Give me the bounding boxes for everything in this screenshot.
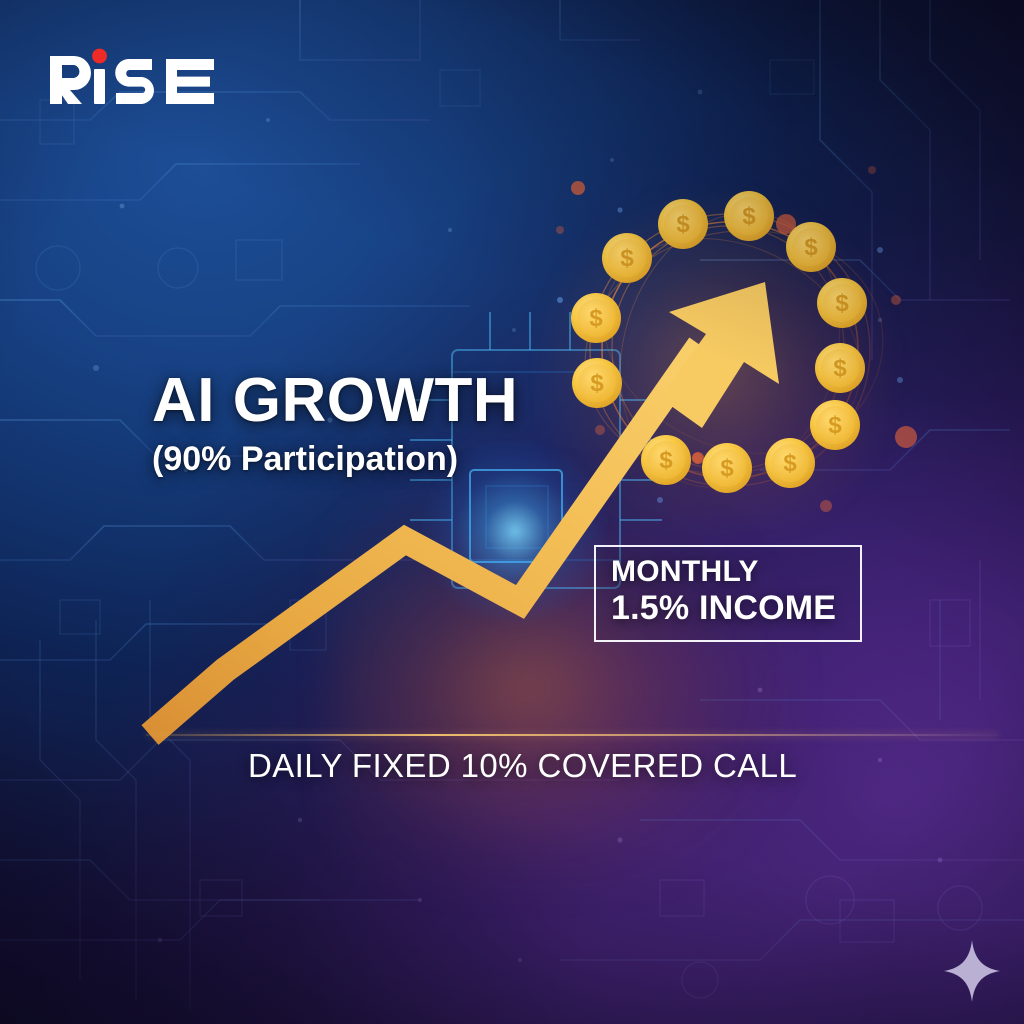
promo-canvas: $ $ $ $ $: [0, 0, 1024, 1024]
chart-caption: DAILY FIXED 10% COVERED CALL: [248, 747, 968, 785]
rise-logo[interactable]: [48, 42, 218, 104]
logo-dot: [92, 49, 107, 64]
corner-shade: [0, 0, 1024, 1024]
callout-line-2: 1.5% INCOME: [611, 590, 860, 627]
callout-line-1: MONTHLY: [611, 556, 860, 588]
sparkle-icon: [944, 940, 1000, 1002]
chart-baseline: [146, 734, 998, 736]
monthly-income-callout: MONTHLY 1.5% INCOME: [594, 545, 862, 642]
